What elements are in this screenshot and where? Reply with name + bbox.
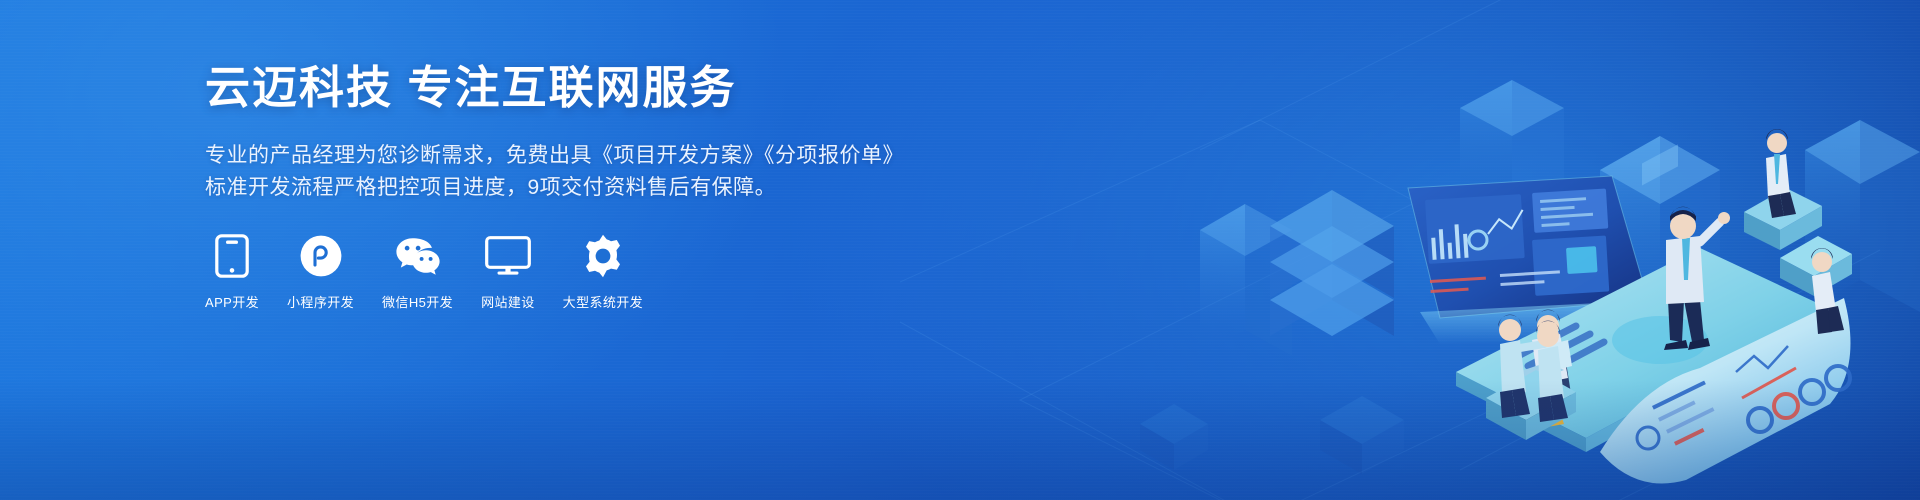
- service-label: 大型系统开发: [563, 292, 643, 311]
- page-title: 云迈科技 专注互联网服务: [205, 62, 905, 114]
- monitor-icon: [484, 232, 532, 280]
- service-item-website[interactable]: 网站建设: [481, 232, 535, 311]
- service-label: 网站建设: [481, 292, 535, 311]
- service-item-mini-program[interactable]: 小程序开发: [287, 232, 354, 311]
- service-label: APP开发: [205, 292, 259, 311]
- wechat-icon: [394, 232, 442, 280]
- mobile-phone-icon: [208, 232, 256, 280]
- hero-subtitle: 专业的产品经理为您诊断需求，免费出具《项目开发方案》《分项报价单》 标准开发流程…: [205, 140, 905, 204]
- hero-illustration: [900, 0, 1920, 500]
- service-list: APP开发 小程序开发 微信: [205, 232, 643, 311]
- service-label: 小程序开发: [287, 292, 354, 311]
- hero-copy: 云迈科技 专注互联网服务 专业的产品经理为您诊断需求，免费出具《项目开发方案》《…: [205, 62, 905, 204]
- subtitle-line-2: 标准开发流程严格把控项目进度，9项交付资料售后有保障。: [205, 172, 905, 204]
- service-label: 微信H5开发: [382, 292, 453, 311]
- service-item-app[interactable]: APP开发: [205, 232, 259, 311]
- service-item-large-system[interactable]: 大型系统开发: [563, 232, 643, 311]
- subtitle-line-1: 专业的产品经理为您诊断需求，免费出具《项目开发方案》《分项报价单》: [205, 140, 905, 172]
- hero-banner: 云迈科技 专注互联网服务 专业的产品经理为您诊断需求，免费出具《项目开发方案》《…: [0, 0, 1920, 500]
- service-item-wechat-h5[interactable]: 微信H5开发: [382, 232, 453, 311]
- gear-icon: [579, 232, 627, 280]
- mini-program-icon: [297, 232, 345, 280]
